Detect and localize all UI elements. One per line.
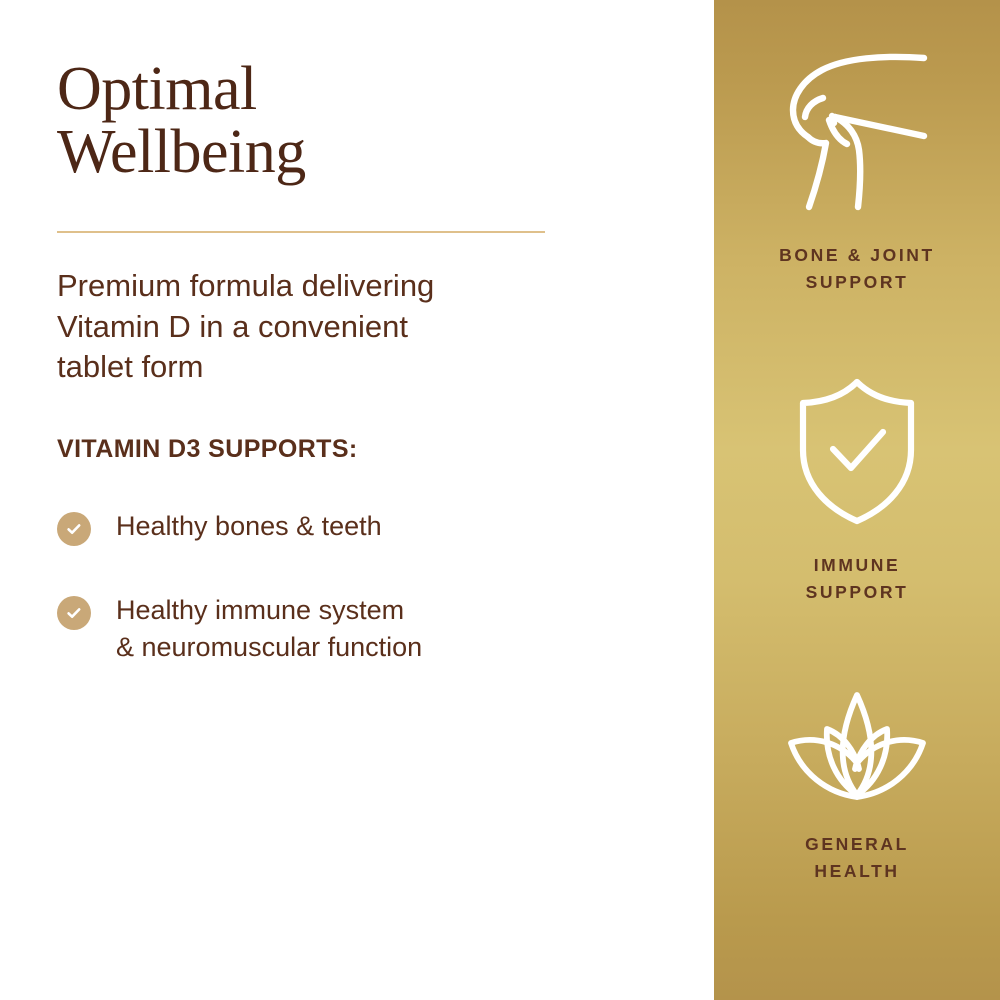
supports-heading: VITAMIN D3 SUPPORTS:: [57, 435, 654, 464]
feature-label: GENERAL HEALTH: [805, 831, 909, 885]
product-description: Premium formula delivering Vitamin D in …: [57, 266, 597, 387]
feature-label: IMMUNE SUPPORT: [806, 552, 909, 606]
knee-joint-icon: [773, 44, 941, 216]
feature-bone-joint: BONE & JOINT SUPPORT: [714, 44, 1000, 296]
check-circle-icon: [57, 596, 91, 630]
list-item: Healthy immune system & neuromuscular fu…: [57, 592, 654, 664]
check-circle-icon: [57, 512, 91, 546]
product-feature-graphic: Optimal Wellbeing Premium formula delive…: [0, 0, 1000, 1000]
list-item-label: Healthy immune system & neuromuscular fu…: [116, 592, 422, 664]
feature-label: BONE & JOINT SUPPORT: [779, 242, 935, 296]
benefits-list: Healthy bones & teeth Healthy immune sys…: [57, 508, 654, 664]
left-content-pane: Optimal Wellbeing Premium formula delive…: [0, 0, 714, 1000]
feature-immune-support: IMMUNE SUPPORT: [714, 376, 1000, 606]
list-item-label: Healthy bones & teeth: [116, 508, 382, 544]
list-item: Healthy bones & teeth: [57, 508, 654, 546]
shield-check-icon: [791, 376, 923, 526]
feature-general-health: GENERAL HEALTH: [714, 685, 1000, 885]
title-divider: [57, 231, 545, 233]
page-title: Optimal Wellbeing: [57, 58, 654, 184]
benefits-sidebar: BONE & JOINT SUPPORT IMMUNE SUPPORT: [714, 0, 1000, 1000]
lotus-flower-icon: [781, 685, 933, 805]
